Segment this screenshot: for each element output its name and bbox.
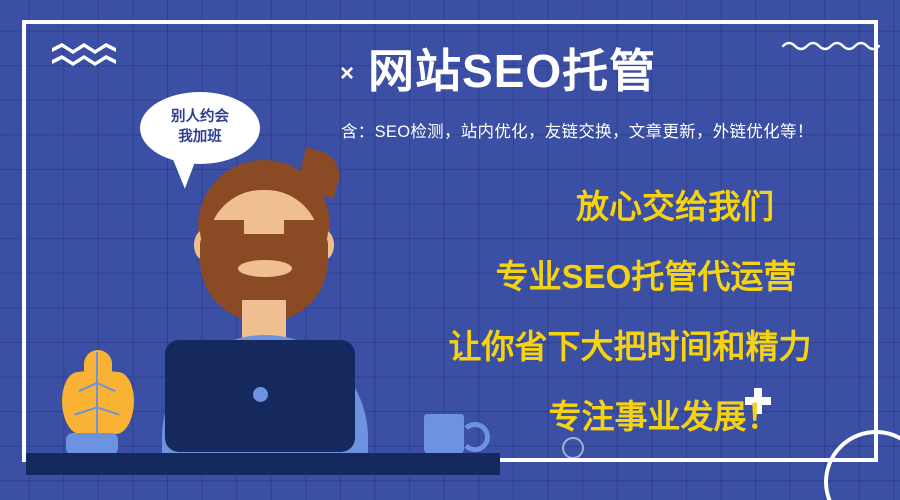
double-wave-icon: [52, 42, 116, 68]
slogan-list: 放心交给我们 专业SEO托管代运营 让你省下大把时间和精力 专注事业发展！: [400, 190, 860, 433]
plant-leaf-center: [84, 350, 112, 436]
laptop-logo-dot: [253, 387, 268, 402]
small-ring-icon: [562, 437, 584, 459]
page-title: × 网站SEO托管: [340, 48, 656, 94]
mouth: [238, 260, 292, 277]
close-icon: ×: [340, 62, 354, 86]
seo-hosting-poster: × 网站SEO托管 含：SEO检测，站内优化，友链交换，文章更新，外链优化等！ …: [0, 0, 900, 500]
slogan-line-2: 专业SEO托管代运营: [432, 260, 860, 293]
potted-plant-icon: [66, 433, 118, 455]
coffee-mug-icon: [424, 414, 464, 456]
leaf-vein: [96, 352, 98, 436]
page-subtitle: 含：SEO检测，站内优化，友链交换，文章更新，外链优化等！: [341, 118, 814, 142]
desk-icon: [26, 453, 500, 475]
slogan-line-3: 让你省下大把时间和精力: [400, 330, 860, 363]
slogan-line-4: 专注事业发展！: [468, 400, 860, 433]
single-wave-icon: [782, 38, 880, 54]
page-title-text: 网站SEO托管: [368, 48, 656, 94]
speech-bubble-line-1: 别人约会: [171, 108, 229, 128]
speech-bubble-line-2: 我加班: [178, 128, 222, 148]
slogan-line-1: 放心交给我们: [490, 190, 860, 223]
mug-handle: [460, 422, 490, 452]
